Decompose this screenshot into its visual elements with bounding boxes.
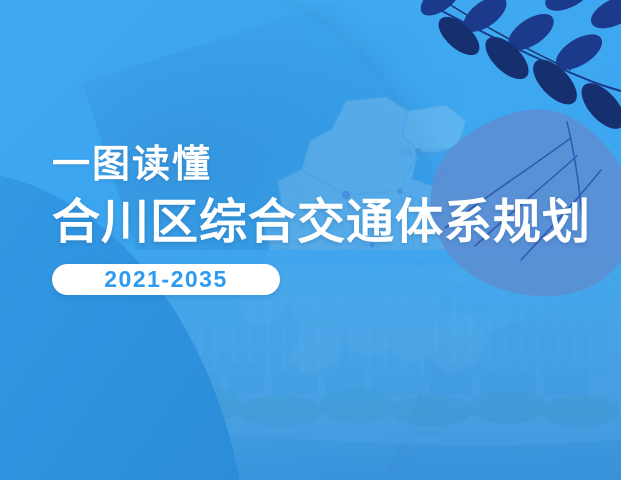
date-range-text: 2021-2035 <box>104 268 228 291</box>
date-range-badge: 2021-2035 <box>52 264 280 295</box>
poster-canvas: 渝东北三峡库区 渝东南武陵山区 城镇片区 主城都市区 <box>0 0 621 480</box>
title-block: 一图读懂 合川区综合交通体系规划 2021-2035 <box>52 146 597 295</box>
page-title: 合川区综合交通体系规划 <box>52 199 597 247</box>
eyebrow-text: 一图读懂 <box>52 146 597 184</box>
